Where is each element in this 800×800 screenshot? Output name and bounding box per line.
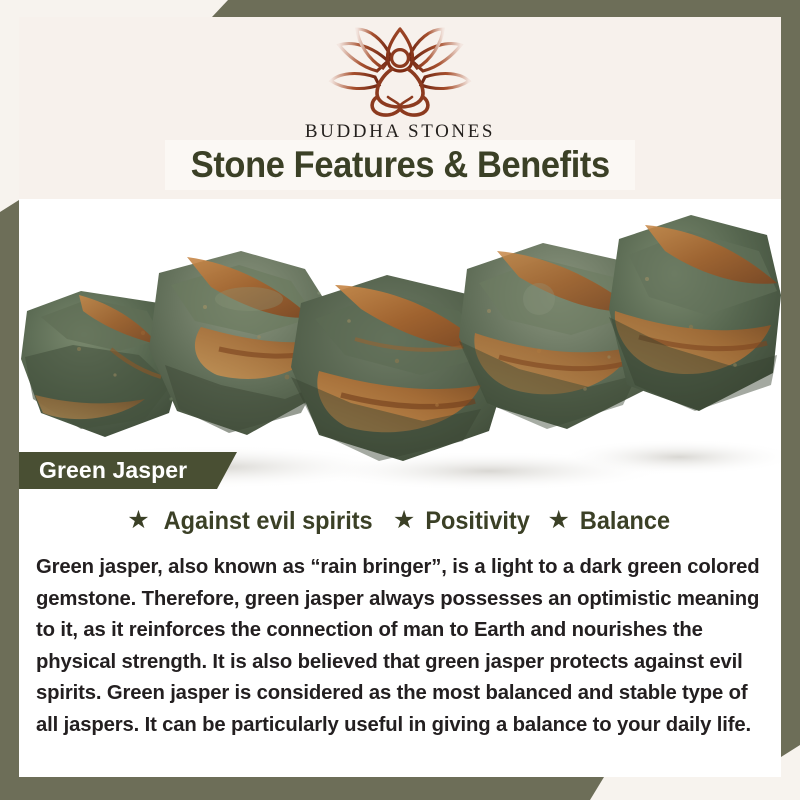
green-jasper-stones-illustration [19,199,781,489]
benefit-item-1: ★ Against evil spirits [127,507,379,536]
benefit-label: Positivity [426,507,530,536]
stone-description-text: Green jasper, also known as “rain bringe… [36,551,761,740]
poster-canvas: BUDDHA STONES Stone Features & Benefits [0,0,800,800]
green-jasper-photo [19,199,781,489]
benefit-item-3: ★ Balance [547,507,672,536]
page-title: Stone Features & Benefits [190,144,609,186]
header-section: BUDDHA STONES Stone Features & Benefits [19,17,781,199]
stone-name-badge: Green Jasper [19,452,237,489]
page-title-band: Stone Features & Benefits [165,140,635,190]
frame-right-bar [781,0,800,800]
brand-logo: BUDDHA STONES [19,27,781,143]
frame-left-bar [0,0,19,800]
stone-name: Green Jasper [39,457,187,484]
star-icon: ★ [547,508,569,533]
benefits-row: ★ Against evil spirits ★ Positivity ★ Ba… [19,507,781,536]
star-icon: ★ [127,508,149,533]
frame-bottom-bar [0,777,800,800]
lotus-meditation-icon [325,27,475,119]
benefit-label: Balance [580,507,670,536]
benefit-label: Against evil spirits [163,507,372,536]
star-icon: ★ [393,508,415,533]
description-panel: ★ Against evil spirits ★ Positivity ★ Ba… [19,489,781,777]
frame-top-bar [0,0,800,17]
benefit-item-2: ★ Positivity [393,507,534,536]
